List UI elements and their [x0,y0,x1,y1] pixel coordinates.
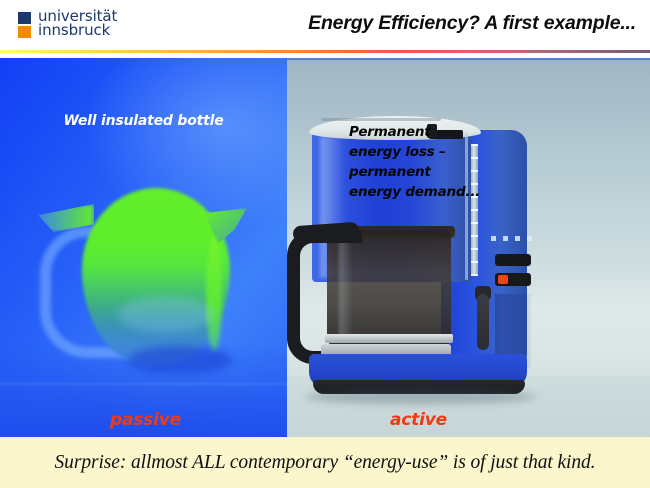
figure-area: Well insulated bottle [0,58,650,437]
thermos-shadow [128,346,232,374]
logo-square-navy-icon [18,12,31,24]
coffee-maker-power-led-icon [498,275,508,284]
thermal-floor-edge [0,383,287,385]
photo-overlay-label: Permanent energy loss – permanent energy… [349,122,529,202]
photo-overlay-line-1: Permanent [349,122,529,142]
slide: universität innsbruck Energy Efficiency?… [0,0,650,488]
coffee-maker-panel-slot [495,254,531,266]
logo-line-innsbruck: innsbruck [38,23,117,37]
page-title: Energy Efficiency? A first example... [308,12,636,35]
label-active: active [390,410,447,430]
thermal-overlay-label: Well insulated bottle [0,113,287,129]
coffee-maker-lid-seam [321,118,441,121]
thermos-highlight [118,296,214,332]
coffee-maker-drop-shadow [305,390,537,404]
logo-squares [18,12,31,38]
coffee-maker-photo-panel: Permanent energy loss – permanent energy… [287,58,650,437]
logo-square-orange-icon [18,26,31,38]
university-logo: universität innsbruck [18,9,117,38]
photo-overlay-line-3: permanent [349,162,529,182]
thermos-hot-edge [206,236,222,352]
logo-wordmark: universität innsbruck [38,9,117,37]
thermal-image-panel: Well insulated bottle [0,58,287,437]
footer-caption-bar: Surprise: allmost ALL contemporary “ener… [0,437,650,488]
label-passive: passive [110,410,181,430]
photo-top-edge [287,58,650,60]
photo-overlay-line-4: energy demand... [349,182,529,202]
coffee-maker-spout-pipe [477,294,489,350]
footer-caption-text: Surprise: allmost ALL contemporary “ener… [55,452,596,474]
header-divider [0,50,650,53]
coffee-maker-panel-marks [491,236,537,241]
slide-header: universität innsbruck Energy Efficiency?… [0,0,650,50]
photo-overlay-line-2: energy loss – [349,142,529,162]
